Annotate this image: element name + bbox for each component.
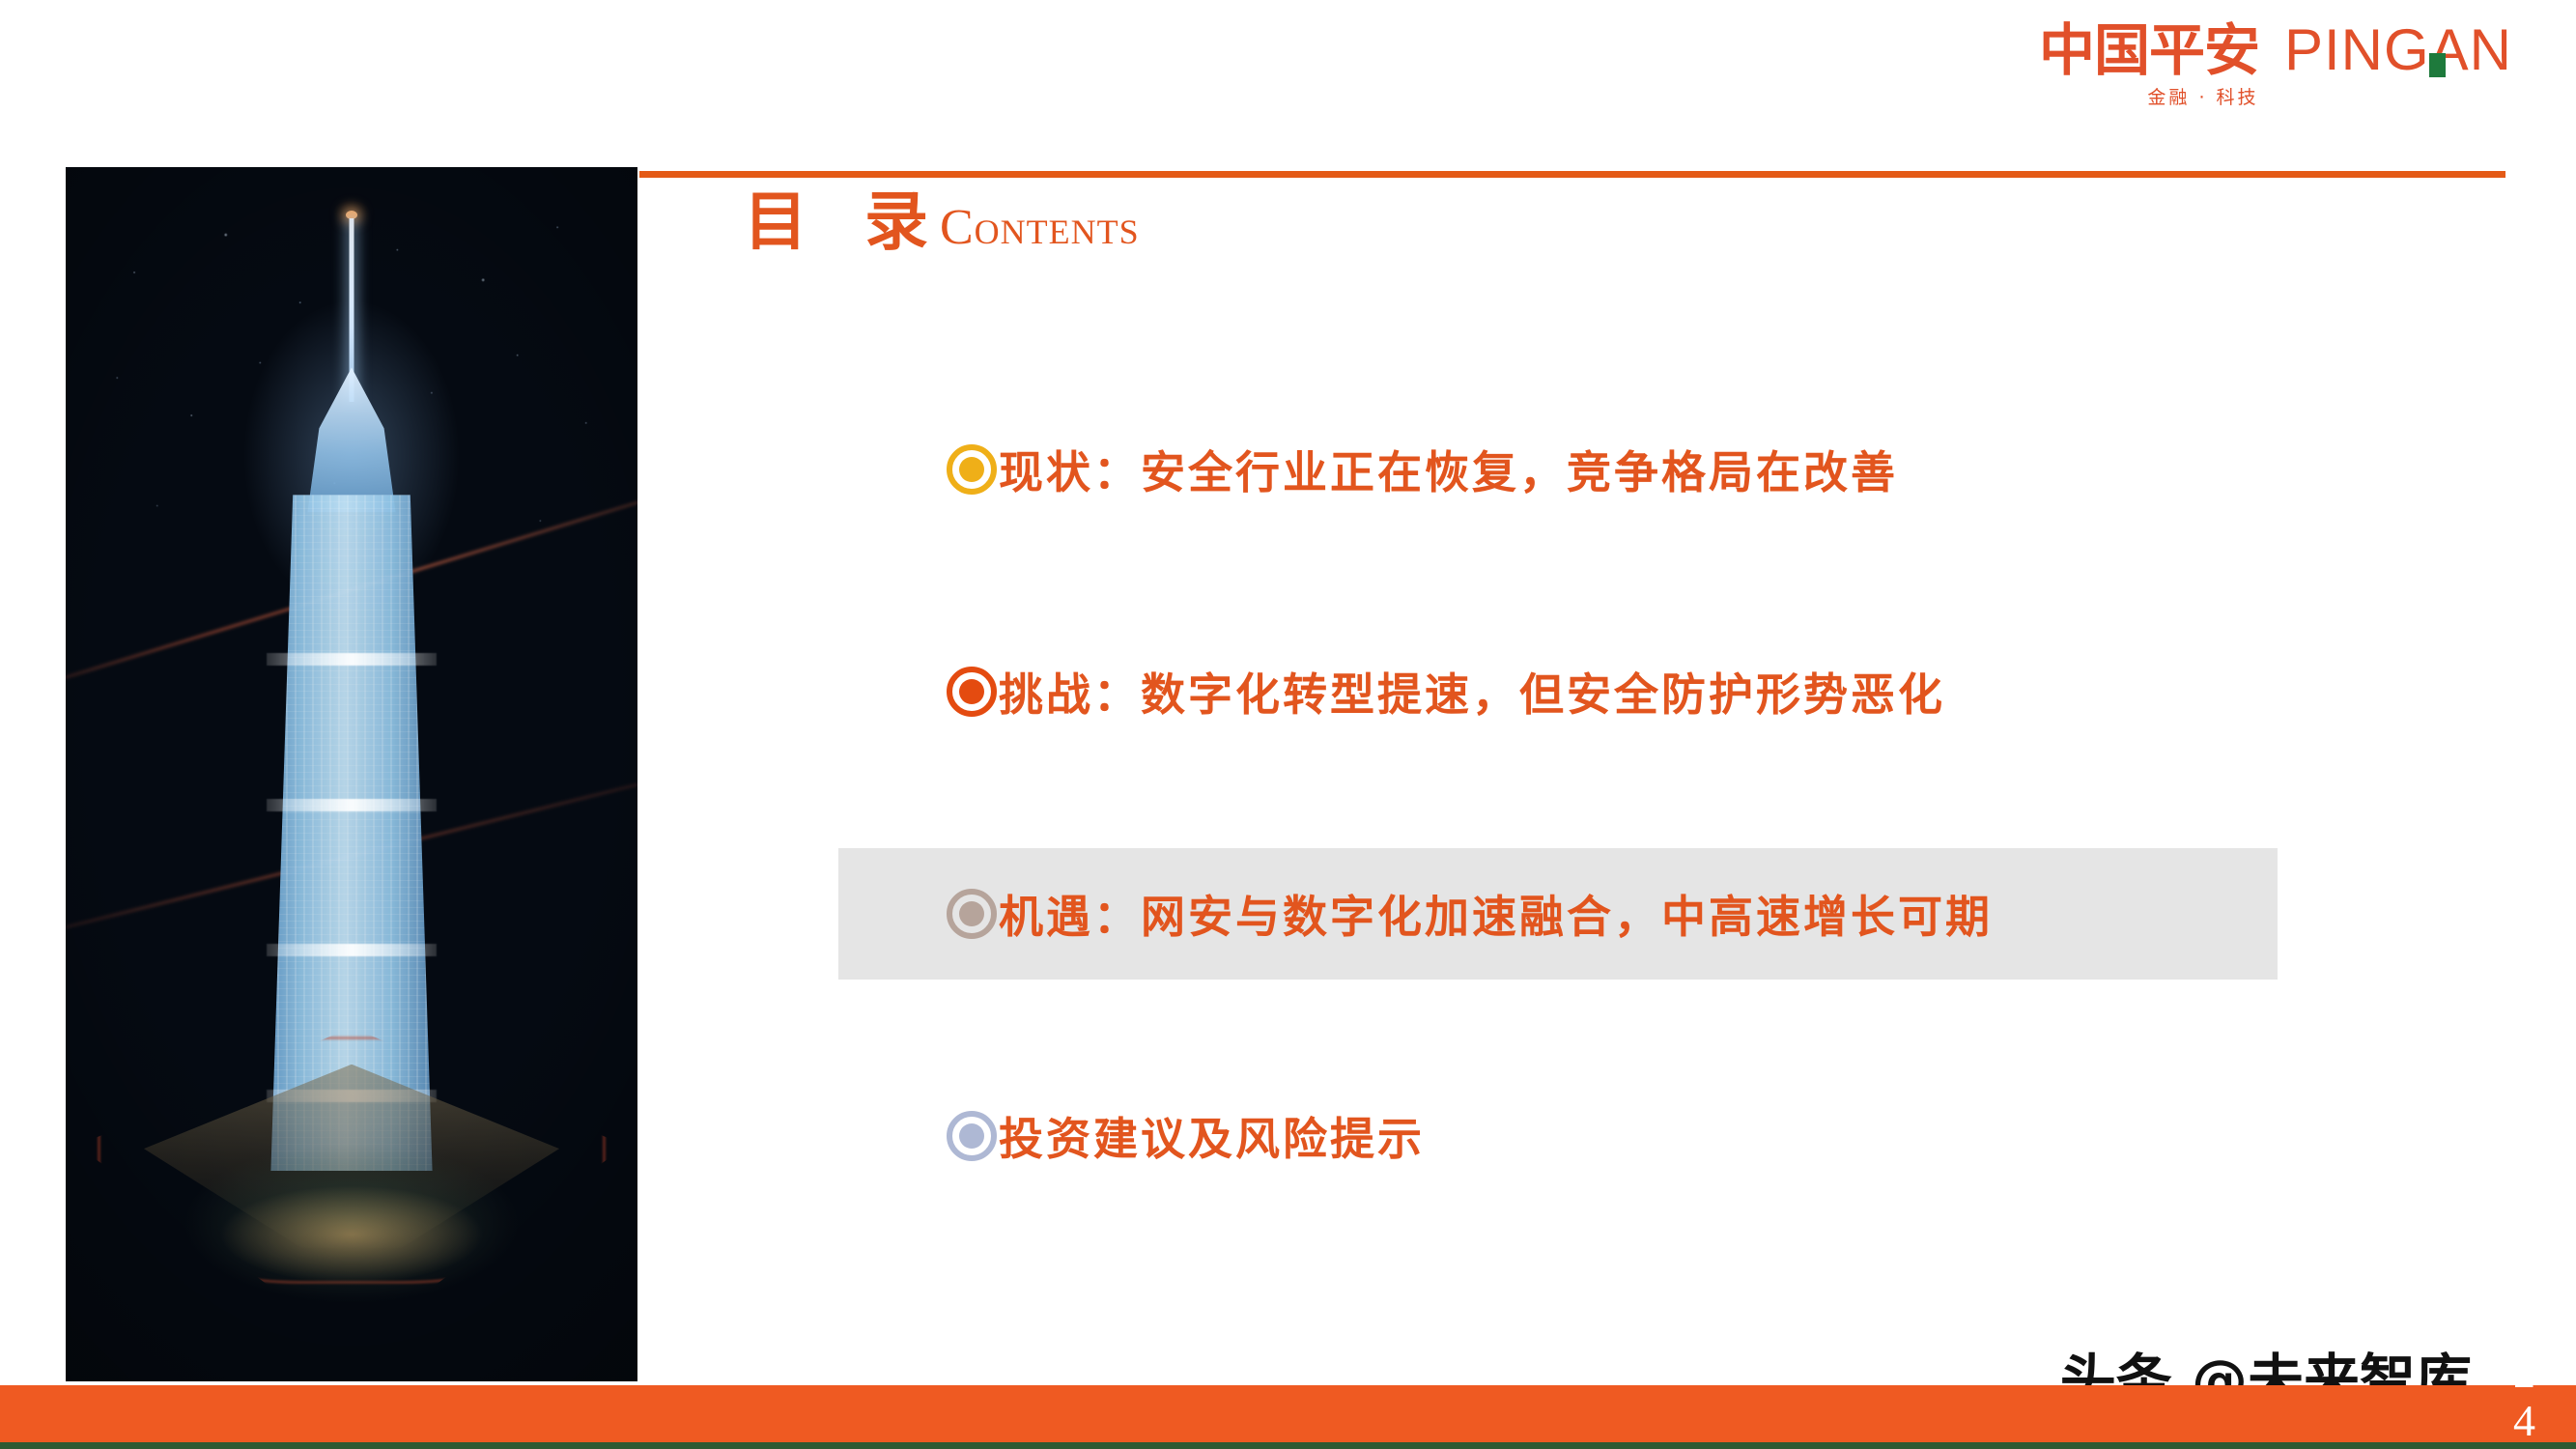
target-ring-dot bbox=[959, 679, 984, 704]
target-ring-icon bbox=[947, 444, 997, 495]
contents-item-1[interactable]: 现状：安全行业正在恢复，竞争格局在改善 bbox=[838, 404, 2384, 535]
slide-canvas: 中国平安 PINGAN 金融 · 科技 目 录Contents bbox=[0, 0, 2576, 1449]
brand-name-en: PINGAN bbox=[2284, 21, 2512, 79]
contents-item-3-label: 机遇：网安与数字化加速融合，中高速增长可期 bbox=[999, 882, 1993, 946]
target-ring-dot bbox=[959, 1123, 984, 1149]
brand-logo: 中国平安 PINGAN 金融 · 科技 bbox=[2039, 21, 2512, 107]
contents-list: 现状：安全行业正在恢复，竞争格局在改善 挑战：数字化转型提速，但安全防护形势恶化… bbox=[838, 404, 2384, 1202]
header-divider bbox=[639, 171, 2505, 178]
target-ring-icon bbox=[947, 667, 997, 717]
target-ring-dot bbox=[959, 457, 984, 482]
contents-item-1-label: 现状：安全行业正在恢复，竞争格局在改善 bbox=[999, 438, 1898, 501]
brand-logo-row: 中国平安 PINGAN bbox=[2039, 21, 2512, 79]
contents-item-2[interactable]: 挑战：数字化转型提速，但安全防护形势恶化 bbox=[838, 626, 2384, 757]
page-title-en: Contents bbox=[940, 200, 1140, 255]
brand-name-cn: 中国平安 bbox=[2039, 22, 2259, 78]
brand-tagline: 金融 · 科技 bbox=[2039, 89, 2512, 107]
target-ring-dot bbox=[959, 901, 984, 926]
brand-green-accent-icon bbox=[2429, 53, 2446, 77]
contents-item-3[interactable]: 机遇：网安与数字化加速融合，中高速增长可期 bbox=[838, 848, 2278, 980]
skyscraper-night-photo bbox=[66, 167, 637, 1381]
footer-green-strip bbox=[0, 1442, 2576, 1449]
contents-item-4[interactable]: 投资建议及风险提示 bbox=[838, 1070, 2384, 1202]
contents-item-4-label: 投资建议及风险提示 bbox=[999, 1104, 1425, 1168]
page-title-cn: 目 录 bbox=[744, 184, 946, 259]
page-number-line-1: 2 bbox=[2513, 1349, 2535, 1397]
photo-vignette bbox=[66, 167, 637, 1381]
page-number-line-2: 4 bbox=[2513, 1397, 2535, 1445]
page-number: 2 4 bbox=[2513, 1349, 2535, 1444]
brand-name-en-text: PINGAN bbox=[2284, 17, 2512, 82]
target-ring-icon bbox=[947, 889, 997, 939]
contents-item-2-label: 挑战：数字化转型提速，但安全防护形势恶化 bbox=[999, 660, 1945, 724]
footer-bar bbox=[0, 1385, 2576, 1449]
page-title: 目 录Contents bbox=[744, 189, 1140, 253]
target-ring-icon bbox=[947, 1111, 997, 1161]
